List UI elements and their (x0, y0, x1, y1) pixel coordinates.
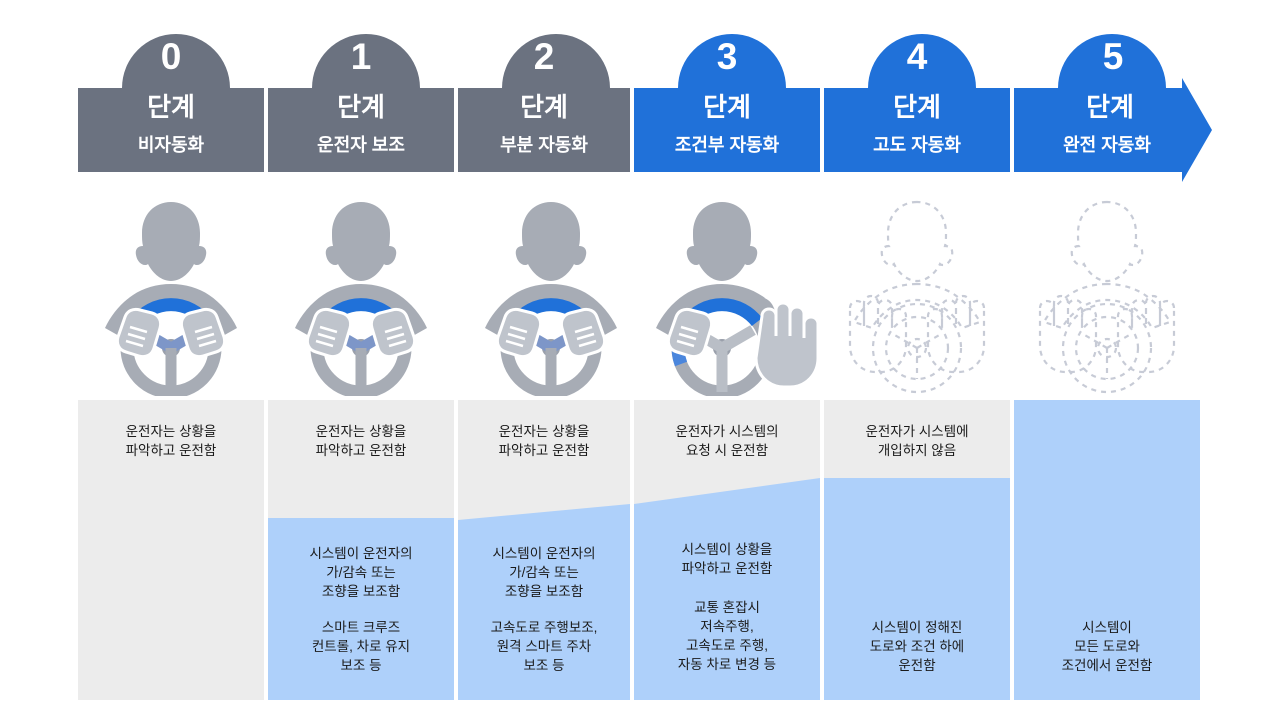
panel-level-4: 운전자가 시스템에 개입하지 않음 시스템이 정해진 도로와 조건 하에 운전함 (824, 400, 1010, 700)
level-header-3 (634, 34, 820, 172)
level-header-1 (268, 34, 454, 172)
panel-0-gray-text: 운전자는 상황을 파악하고 운전함 (78, 422, 264, 460)
driver-one-hand-raised-glyph (656, 202, 818, 392)
level-header-2 (458, 34, 630, 172)
panel-5-blue-text: 시스템이 모든 도로와 조건에서 운전함 (1014, 618, 1200, 675)
panel-3-blue-text: 시스템이 상황을 파악하고 운전함 (634, 540, 820, 578)
driver-icon-2 (458, 196, 644, 396)
driver-icon-0 (78, 196, 264, 396)
panel-2-blue-text: 시스템이 운전자의 가/감속 또는 조향을 보조함 (458, 544, 630, 601)
infographic-root: 0 단계 비자동화 1 단계 운전자 보조 2 단계 부분 자동화 3 단계 조… (0, 0, 1280, 720)
panel-level-1: 운전자는 상황을 파악하고 운전함 시스템이 운전자의 가/감속 또는 조향을 … (268, 400, 454, 700)
panel-2-gray-text: 운전자는 상황을 파악하고 운전함 (458, 422, 630, 460)
panel-level-5: 시스템이 모든 도로와 조건에서 운전함 (1014, 400, 1200, 700)
panel-4-blue-text: 시스템이 정해진 도로와 조건 하에 운전함 (824, 618, 1010, 675)
panel-3-gray-text: 운전자가 시스템의 요청 시 운전함 (634, 422, 820, 460)
driver-icon-3 (634, 196, 820, 396)
panel-1-blue-text: 시스템이 운전자의 가/감속 또는 조향을 보조함 (268, 544, 454, 601)
panel-2-blue-text-2: 고속도로 주행보조, 원격 스마트 주차 보조 등 (458, 618, 630, 675)
panel-1-blue-text-2: 스마트 크루즈 컨트롤, 차로 유지 보조 등 (268, 618, 454, 675)
panel-level-3: 운전자가 시스템의 요청 시 운전함 시스템이 상황을 파악하고 운전함 교통 … (634, 400, 820, 700)
panel-1-gray-text: 운전자는 상황을 파악하고 운전함 (268, 422, 454, 460)
level-header-0 (78, 34, 264, 172)
driver-ghost-hands-off-wheel-glyph (1040, 202, 1174, 392)
level-header-4 (824, 34, 1010, 172)
panel-3-blue-text-2: 교통 혼잡시 저속주행, 고속도로 주행, 자동 차로 변경 등 (634, 598, 820, 674)
driver-icon-1 (268, 196, 454, 396)
panel-level-2: 운전자는 상황을 파악하고 운전함 시스템이 운전자의 가/감속 또는 조향을 … (458, 400, 630, 700)
driver-hands-on-wheel-glyph (105, 202, 237, 392)
panel-level-0: 운전자는 상황을 파악하고 운전함 (78, 400, 264, 700)
driver-hands-on-wheel-glyph (485, 202, 617, 392)
level-header-5 (1014, 34, 1212, 182)
driver-icon-4 (824, 196, 1010, 396)
description-panels: 운전자는 상황을 파악하고 운전함 운전자는 상황을 파악하고 운전함 시스템이… (0, 400, 1280, 706)
driver-icon-5 (1014, 196, 1200, 396)
open-hand-glyph (756, 303, 818, 387)
driver-hands-on-wheel-glyph (295, 202, 427, 392)
driver-ghost-hands-off-wheel-glyph (850, 202, 984, 392)
panel-4-gray-text: 운전자가 시스템에 개입하지 않음 (824, 422, 1010, 460)
level-banner: 0 단계 비자동화 1 단계 운전자 보조 2 단계 부분 자동화 3 단계 조… (0, 0, 1280, 195)
